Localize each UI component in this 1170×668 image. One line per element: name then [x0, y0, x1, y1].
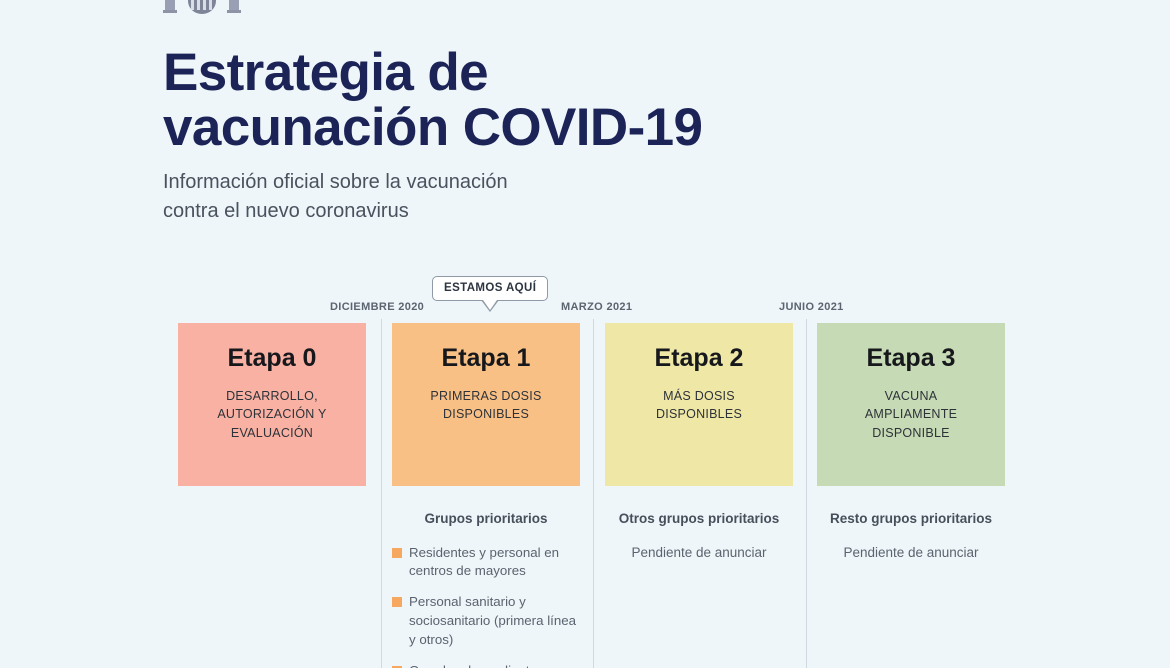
- group-note-2: Pendiente de anunciar: [605, 544, 793, 563]
- stage-card-0[interactable]: Etapa 0 DESARROLLO, AUTORIZACIÓN Y EVALU…: [178, 323, 366, 486]
- page-title: Estrategia de vacunación COVID-19: [163, 46, 863, 155]
- stage-description-3: VACUNA AMPLIAMENTE DISPONIBLE: [827, 387, 995, 443]
- stage-column-3: Etapa 3 VACUNA AMPLIAMENTE DISPONIBLE Re…: [817, 323, 1005, 562]
- group-title-2: Otros grupos prioritarios: [605, 510, 793, 528]
- group-note-3: Pendiente de anunciar: [817, 544, 1005, 563]
- list-item: Personal sanitario y sociosanitario (pri…: [392, 593, 580, 650]
- priority-group-list: Residentes y personal en centros de mayo…: [392, 544, 580, 668]
- infographic-page: Estrategia de vacunación COVID-19 Inform…: [0, 0, 1170, 668]
- page-subtitle: Información oficial sobre la vacunación …: [163, 168, 863, 225]
- stage-column-2: Etapa 2 MÁS DOSIS DISPONIBLES Otros grup…: [605, 323, 793, 562]
- list-item: Grandes dependientes: [392, 662, 580, 668]
- group-item-label: Grandes dependientes: [409, 663, 544, 668]
- stage-description-1: PRIMERAS DOSIS DISPONIBLES: [402, 387, 570, 424]
- stage-column-1: Etapa 1 PRIMERAS DOSIS DISPONIBLES Grupo…: [392, 323, 580, 668]
- stage-card-1[interactable]: Etapa 1 PRIMERAS DOSIS DISPONIBLES: [392, 323, 580, 486]
- badge-pointer-fill: [483, 300, 497, 310]
- header: Estrategia de vacunación COVID-19 Inform…: [163, 46, 863, 225]
- organization-logo: [162, 0, 242, 14]
- stage-card-3[interactable]: Etapa 3 VACUNA AMPLIAMENTE DISPONIBLE: [817, 323, 1005, 486]
- stage-name-3: Etapa 3: [827, 345, 995, 373]
- stage-card-2[interactable]: Etapa 2 MÁS DOSIS DISPONIBLES: [605, 323, 793, 486]
- group-block-1: Grupos prioritarios Residentes y persona…: [392, 510, 580, 668]
- group-block-2: Otros grupos prioritarios Pendiente de a…: [605, 510, 793, 562]
- stage-name-0: Etapa 0: [188, 345, 356, 373]
- group-block-3: Resto grupos prioritarios Pendiente de a…: [817, 510, 1005, 562]
- current-position-badge: ESTAMOS AQUÍ: [432, 276, 548, 301]
- coat-of-arms-icon: [181, 0, 223, 14]
- current-position-label: ESTAMOS AQUÍ: [444, 282, 536, 294]
- group-title-1: Grupos prioritarios: [392, 510, 580, 528]
- timeline-label-marzo: MARZO 2021: [561, 301, 632, 313]
- timeline-label-junio: JUNIO 2021: [779, 301, 844, 313]
- pillar-right-icon: [226, 0, 242, 14]
- group-item-label: Residentes y personal en centros de mayo…: [409, 545, 559, 579]
- timeline-labels: DICIEMBRE 2020 MARZO 2021 JUNIO 2021: [0, 301, 1170, 317]
- stages-container: Etapa 0 DESARROLLO, AUTORIZACIÓN Y EVALU…: [0, 323, 1170, 668]
- bullet-square-icon: [392, 548, 402, 558]
- bullet-square-icon: [392, 597, 402, 607]
- timeline-label-diciembre: DICIEMBRE 2020: [330, 301, 424, 313]
- stage-description-2: MÁS DOSIS DISPONIBLES: [615, 387, 783, 424]
- stage-description-0: DESARROLLO, AUTORIZACIÓN Y EVALUACIÓN: [188, 387, 356, 443]
- list-item: Residentes y personal en centros de mayo…: [392, 544, 580, 582]
- stage-name-2: Etapa 2: [615, 345, 783, 373]
- stage-column-0: Etapa 0 DESARROLLO, AUTORIZACIÓN Y EVALU…: [178, 323, 366, 486]
- stage-name-1: Etapa 1: [402, 345, 570, 373]
- group-title-3: Resto grupos prioritarios: [817, 510, 1005, 528]
- group-item-label: Personal sanitario y sociosanitario (pri…: [409, 594, 576, 647]
- pillar-left-icon: [162, 0, 178, 14]
